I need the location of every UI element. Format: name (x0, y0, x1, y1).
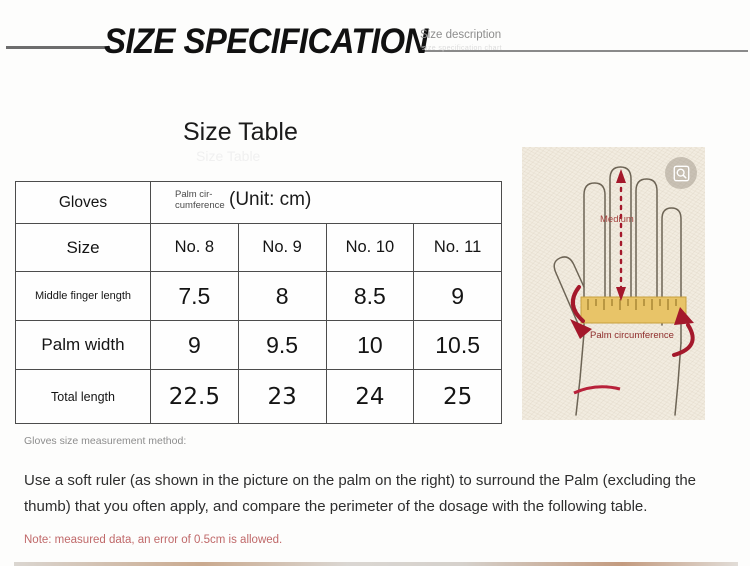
palm-circumference-annotation: Palm circumference (590, 330, 674, 341)
next-image-strip (14, 562, 738, 566)
banner-rule-left (6, 46, 110, 49)
table-header-unit-cell: Palm cir- cumference (Unit: cm) (151, 182, 502, 224)
row-label-middle-finger-length: Middle finger length (16, 272, 151, 321)
cell-total-11: 25 (414, 370, 502, 424)
size-table: Gloves Palm cir- cumference (Unit: cm) S… (15, 181, 502, 424)
tolerance-note: Note: measured data, an error of 0.5cm i… (24, 534, 282, 546)
cell-total-9: 23 (238, 370, 326, 424)
cell-mid-9: 8 (238, 272, 326, 321)
cell-total-8: 22.5 (151, 370, 239, 424)
row-label-total-length: Total length (16, 370, 151, 424)
palm-circumference-label: Palm cir- cumference (175, 189, 237, 211)
banner: SIZE SPECIFICATION Size description size… (0, 22, 750, 70)
section-title: Size Table (183, 118, 298, 147)
measuring-tape (581, 297, 686, 323)
cell-palm-9: 9.5 (238, 321, 326, 370)
row-label-palm-width: Palm width (16, 321, 151, 370)
table-row-header: Gloves Palm cir- cumference (Unit: cm) (16, 182, 502, 224)
banner-subtitle: Size description (420, 29, 501, 41)
table-row: Size No. 8 No. 9 No. 10 No. 11 (16, 224, 502, 272)
cell-mid-8: 7.5 (151, 272, 239, 321)
cell-mid-11: 9 (414, 272, 502, 321)
table-row: Middle finger length 7.5 8 8.5 9 (16, 272, 502, 321)
cuff-line (574, 387, 620, 393)
cell-size-10: No. 10 (326, 224, 414, 272)
cell-total-10: 24 (326, 370, 414, 424)
magnifier-icon[interactable] (665, 157, 697, 189)
banner-subtitle-ghost: size specification chart (422, 45, 502, 52)
table-row: Palm width 9 9.5 10 10.5 (16, 321, 502, 370)
hand-measurement-illustration: Medium Palm circumference (522, 147, 705, 420)
cell-palm-10: 10 (326, 321, 414, 370)
table-corner-label: Gloves (16, 182, 151, 224)
banner-title: SIZE SPECIFICATION (104, 22, 428, 62)
unit-label: (Unit: cm) (229, 189, 311, 211)
cell-size-9: No. 9 (238, 224, 326, 272)
measurement-method-label: Gloves size measurement method: (24, 435, 214, 448)
middle-finger-arrow (616, 169, 626, 301)
cell-size-11: No. 11 (414, 224, 502, 272)
table-row: Total length 22.5 23 24 25 (16, 370, 502, 424)
cell-size-8: No. 8 (151, 224, 239, 272)
section-title-ghost: Size Table (196, 148, 260, 164)
cell-palm-11: 10.5 (414, 321, 502, 370)
size-specification-page: SIZE SPECIFICATION Size description size… (0, 0, 750, 566)
medium-label: Medium (600, 214, 634, 225)
row-label-size: Size (16, 224, 151, 272)
cell-mid-10: 8.5 (326, 272, 414, 321)
measurement-instructions: Use a soft ruler (as shown in the pictur… (24, 468, 714, 520)
cell-palm-8: 9 (151, 321, 239, 370)
